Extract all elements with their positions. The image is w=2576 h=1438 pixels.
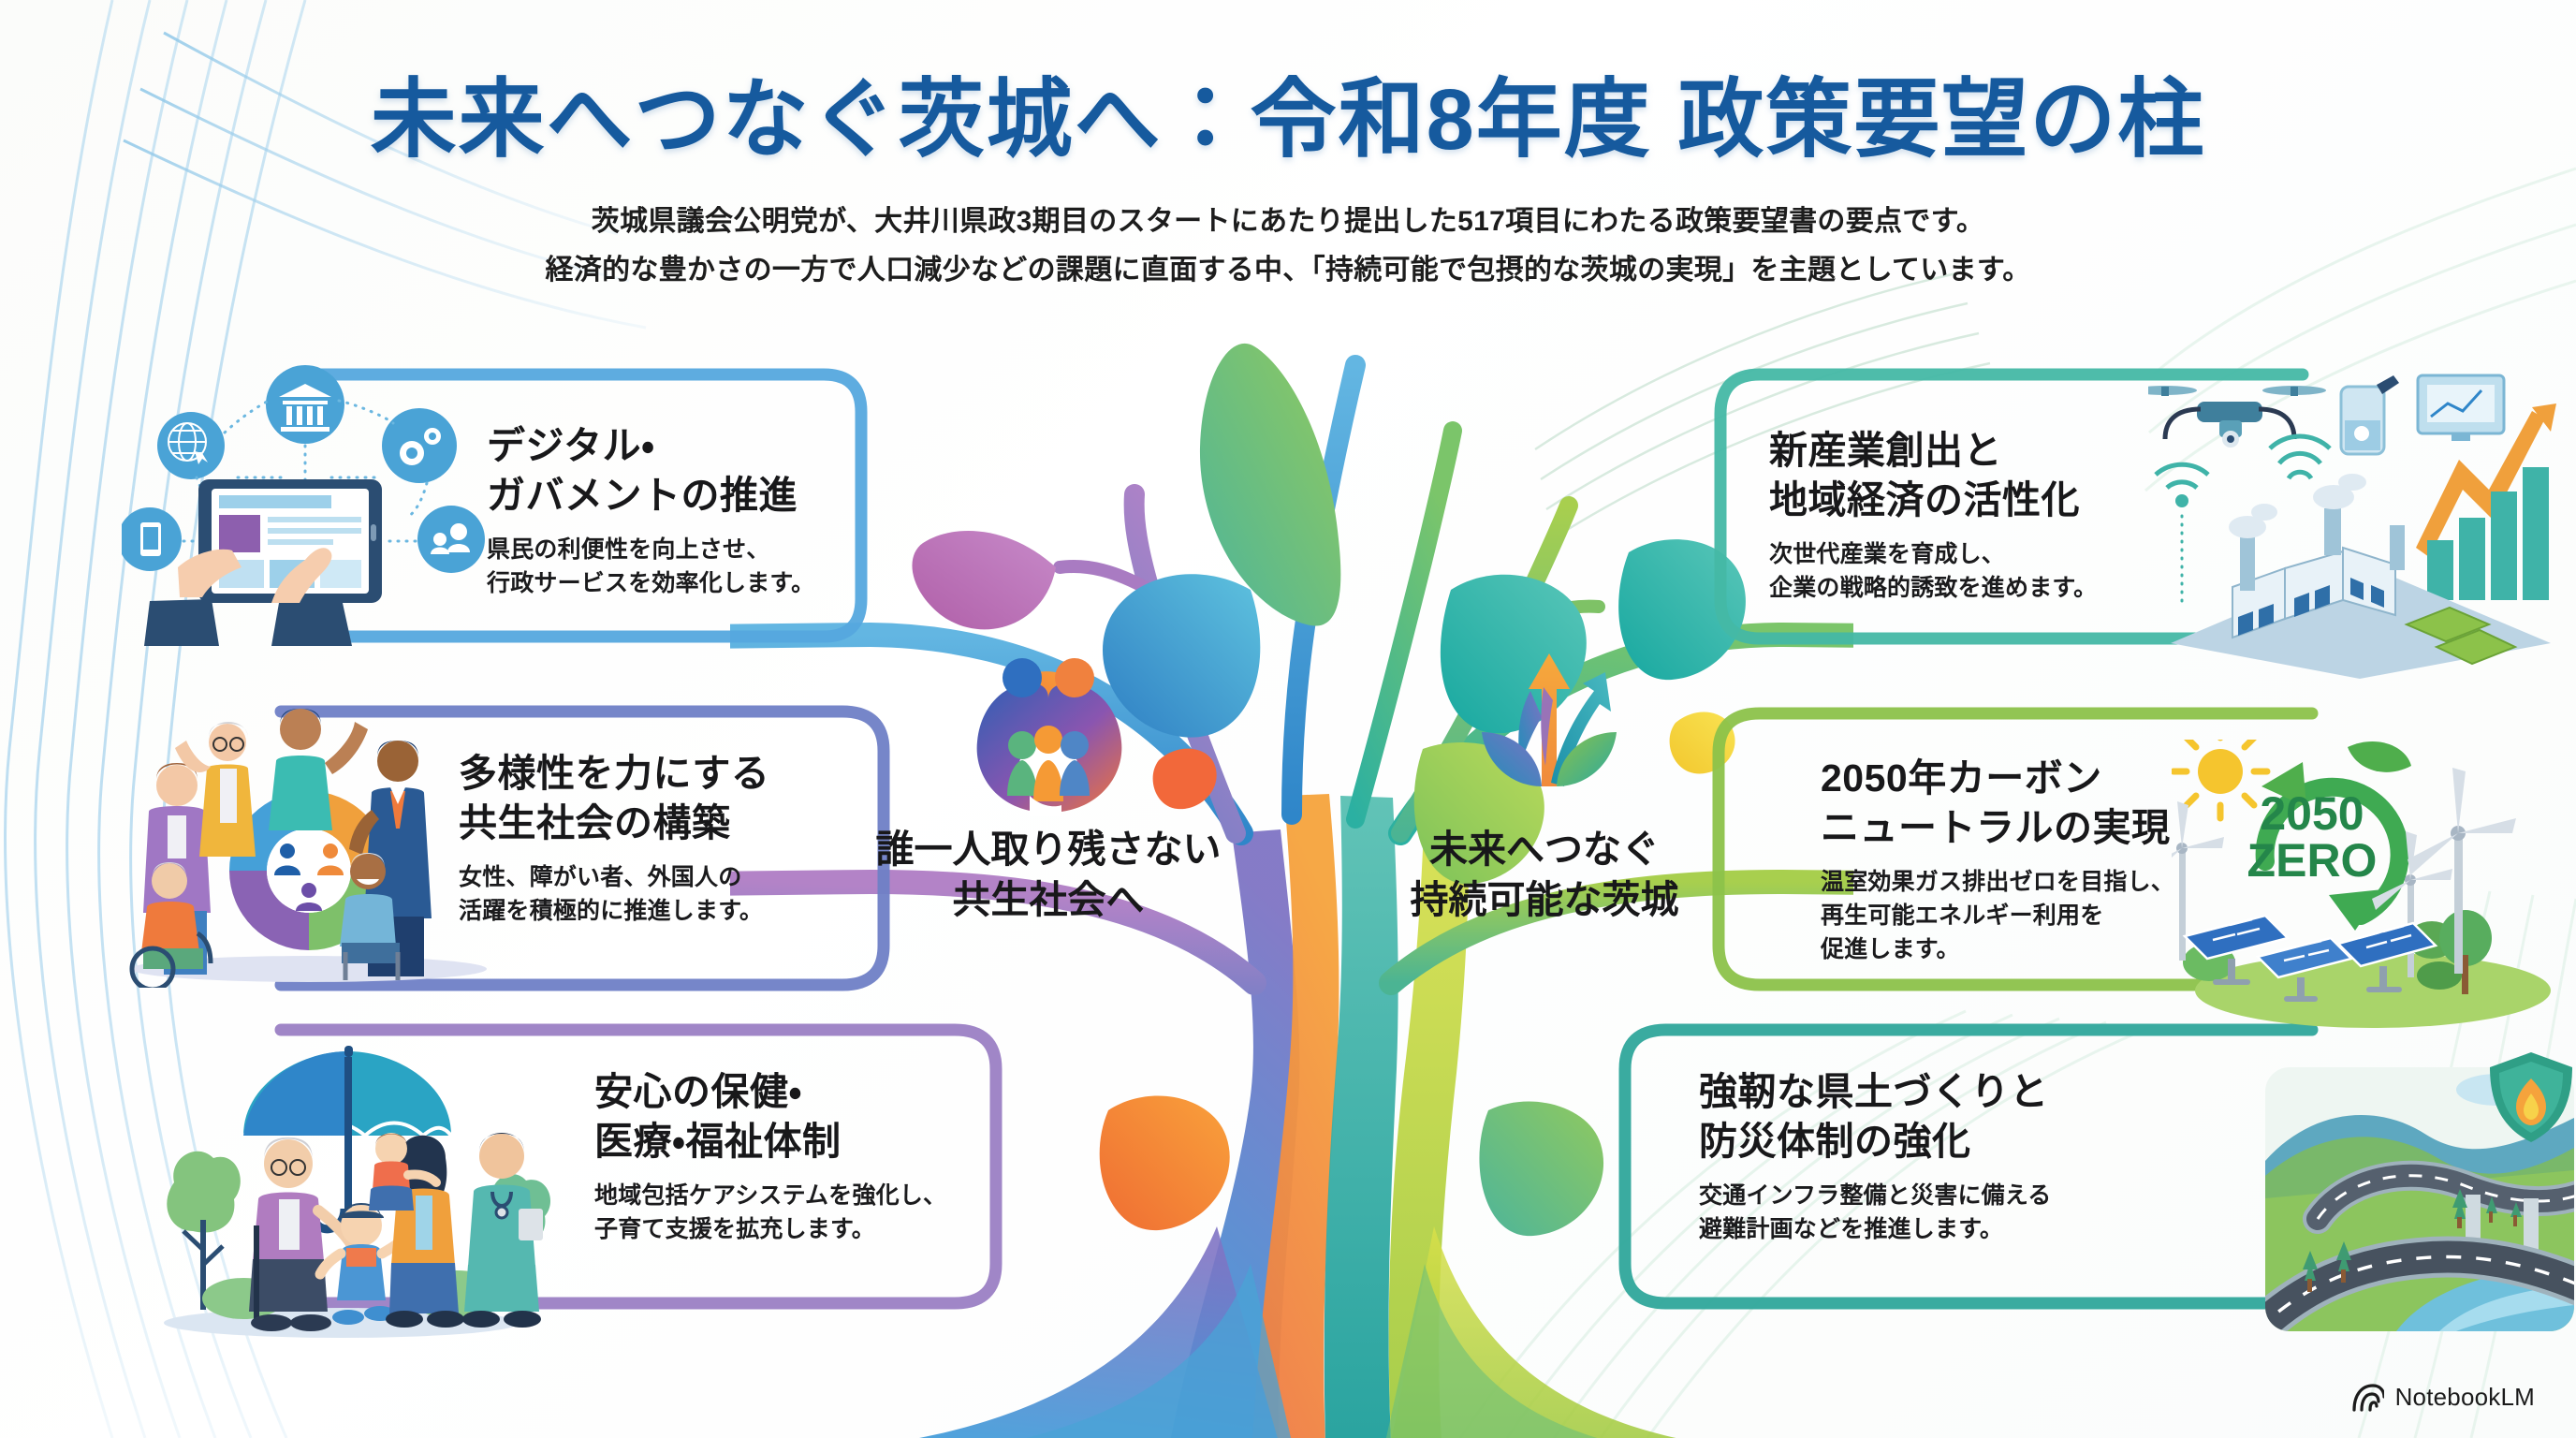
pillar-title-line-2: 防災体制の強化: [1699, 1117, 2261, 1167]
pillar-desc-line-3: 促進します。: [1821, 932, 2345, 966]
pillar-title: デジタル・ ガバメントの推進: [487, 421, 1011, 521]
pillar-title-line-1: 安心の保健・: [594, 1067, 1119, 1117]
watermark-label: NotebookLM: [2395, 1383, 2535, 1412]
pillar-title: 強靭な県土づくりと 防災体制の強化: [1699, 1067, 2261, 1167]
pillar-title-line-1: 新産業創出と: [1769, 426, 2312, 476]
pillar-title-line-2: 医療・福祉体制: [594, 1117, 1119, 1167]
diversity-inclusion-illustration: [117, 688, 501, 988]
pillar-card-digital[interactable]: デジタル・ ガバメントの推進 県民の利便性を向上させ、 行政サービスを効率化しま…: [487, 421, 1011, 600]
infographic-canvas: 未来へつなぐ茨城へ：令和8年度 政策要望の柱 茨城県議会公明党が、大井川県政3期…: [0, 0, 2576, 1438]
subtitle-line-1: 茨城県議会公明党が、大井川県政3期目のスタートにあたり提出した517項目にわたる…: [0, 198, 2576, 246]
center-label-inclusion: 誰一人取り残さない 共生社会へ: [833, 824, 1264, 925]
pillar-title: 新産業創出と 地域経済の活性化: [1769, 426, 2312, 526]
pillar-card-resilience[interactable]: 強靭な県土づくりと 防災体制の強化 交通インフラ整備と災害に備える 避難計画など…: [1699, 1067, 2261, 1246]
center-label-sustainable: 未来へつなぐ 持続可能な茨城: [1329, 824, 1760, 925]
health-welfare-family-illustration: [131, 1025, 552, 1348]
center-label-line-2: 共生社会へ: [833, 874, 1264, 925]
pillar-title: 安心の保健・ 医療・福祉体制: [594, 1067, 1119, 1167]
notebooklm-watermark: NotebookLM: [2352, 1383, 2535, 1412]
center-label-line-2: 持続可能な茨城: [1329, 874, 1760, 925]
pillar-desc-line-1: 県民の利便性を向上させ、: [487, 533, 1011, 566]
pillar-title-line-1: 強靭な県土づくりと: [1699, 1067, 2261, 1117]
page-header: 未来へつなぐ茨城へ：令和8年度 政策要望の柱 茨城県議会公明党が、大井川県政3期…: [0, 73, 2576, 294]
page-subtitle: 茨城県議会公明党が、大井川県政3期目のスタートにあたり提出した517項目にわたる…: [0, 198, 2576, 294]
pillar-title-line-2: ガバメントの推進: [487, 471, 1011, 521]
pillar-desc-line-2: 再生可能エネルギー利用を: [1821, 899, 2345, 932]
page-title: 未来へつなぐ茨城へ：令和8年度 政策要望の柱: [0, 73, 2576, 168]
pillar-description: 地域包括ケアシステムを強化し、 子育て支援を拡充します。: [594, 1179, 1119, 1247]
pillar-desc-line-1: 地域包括ケアシステムを強化し、: [594, 1179, 1119, 1212]
pillar-desc-line-1: 次世代産業を育成し、: [1769, 537, 2312, 571]
pillar-description: 交通インフラ整備と災害に備える 避難計画などを推進します。: [1699, 1179, 2261, 1247]
subtitle-line-2: 経済的な豊かさの一方で人口減少などの課題に直面する中、「持続可能で包摂的な茨城の…: [0, 246, 2576, 295]
pillar-title: 2050年カーボン ニュートラルの実現: [1821, 754, 2345, 854]
pillar-title-line-2: ニュートラルの実現: [1821, 803, 2345, 853]
growth-arrow-leaves-icon: [1465, 646, 1633, 824]
pillar-desc-line-2: 子育て支援を拡充します。: [594, 1212, 1119, 1246]
pillar-card-carbon-neutral[interactable]: 2050年カーボン ニュートラルの実現 温室効果ガス排出ゼロを目指し、 再生可能…: [1821, 754, 2345, 966]
pillar-title-line-1: 2050年カーボン: [1821, 754, 2345, 803]
inclusion-people-icon: [964, 655, 1133, 824]
pillar-description: 温室効果ガス排出ゼロを目指し、 再生可能エネルギー利用を 促進します。: [1821, 865, 2345, 967]
center-label-line-1: 未来へつなぐ: [1329, 824, 1760, 874]
pillar-title-line-1: 多様性を力にする: [459, 749, 983, 799]
pillar-desc-line-2: 行政サービスを効率化します。: [487, 566, 1011, 600]
pillar-description: 次世代産業を育成し、 企業の戦略的誘致を進めます。: [1769, 537, 2312, 606]
digital-government-illustration: [122, 365, 496, 646]
pillar-description: 県民の利便性を向上させ、 行政サービスを効率化します。: [487, 533, 1011, 601]
pillar-desc-line-1: 温室効果ガス排出ゼロを目指し、: [1821, 865, 2345, 899]
pillar-card-health[interactable]: 安心の保健・ 医療・福祉体制 地域包括ケアシステムを強化し、 子育て支援を拡充し…: [594, 1067, 1119, 1246]
resilience-infrastructure-illustration: [2265, 1049, 2576, 1348]
center-label-line-1: 誰一人取り残さない: [833, 824, 1264, 874]
pillar-title-line-1: デジタル・: [487, 421, 1011, 471]
pillar-card-industry[interactable]: 新産業創出と 地域経済の活性化 次世代産業を育成し、 企業の戦略的誘致を進めます…: [1769, 426, 2312, 605]
pillar-desc-line-1: 交通インフラ整備と災害に備える: [1699, 1179, 2261, 1212]
pillar-title-line-2: 地域経済の活性化: [1769, 476, 2312, 525]
pillar-desc-line-2: 企業の戦略的誘致を進めます。: [1769, 571, 2312, 605]
pillar-desc-line-2: 避難計画などを推進します。: [1699, 1212, 2261, 1246]
notebooklm-logo-icon: [2352, 1384, 2384, 1412]
